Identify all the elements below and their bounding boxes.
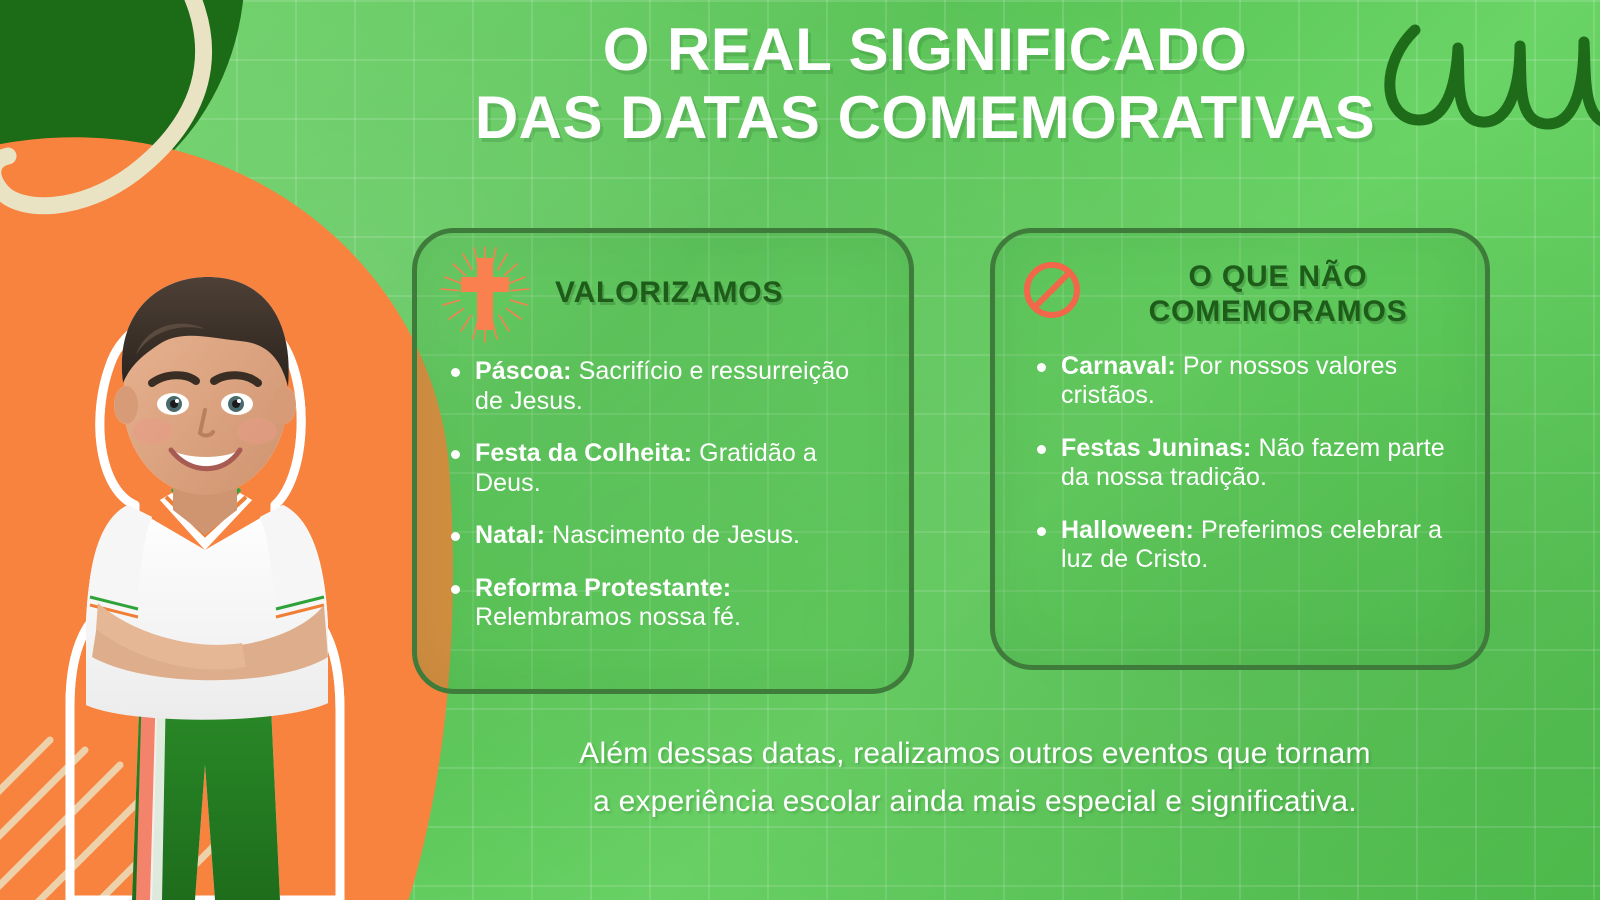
list-item: Natal: Nascimento de Jesus. <box>451 521 883 551</box>
footer-line-2: a experiência escolar ainda mais especia… <box>420 778 1530 826</box>
list-item: Carnaval: Por nossos valores cristãos. <box>1037 352 1463 411</box>
list-item: Reforma Protestante: Relembramos nossa f… <box>451 574 883 633</box>
title-line-1: O REAL SIGNIFICADO <box>603 16 1248 83</box>
card-header: VALORIZAMOS <box>417 233 909 343</box>
item-description: Relembramos nossa fé. <box>475 603 741 631</box>
item-term: Natal: <box>475 521 545 549</box>
poster-canvas: O REAL SIGNIFICADO DAS DATAS COMEMORATIV… <box>0 0 1600 900</box>
item-term: Reforma Protestante: <box>475 574 731 602</box>
list-item: Festa da Colheita: Gratidão a Deus. <box>451 439 883 498</box>
prohibition-icon <box>1021 259 1083 321</box>
cross-sunburst-icon <box>439 243 531 343</box>
item-term: Páscoa: <box>475 357 572 385</box>
valorizamos-list: Páscoa: Sacrifício e ressurreição de Jes… <box>417 343 909 633</box>
item-term: Carnaval: <box>1061 352 1176 380</box>
card-header: O QUE NÃO COMEMORAMOS <box>995 233 1485 330</box>
card-title-nao-comemoramos: O QUE NÃO COMEMORAMOS <box>1097 259 1459 330</box>
item-term: Festas Juninas: <box>1061 434 1251 462</box>
title-line-2: DAS DATAS COMEMORATIVAS <box>430 84 1420 152</box>
card-nao-comemoramos: O QUE NÃO COMEMORAMOS Carnaval: Por noss… <box>990 228 1490 670</box>
footer-text: Além dessas datas, realizamos outros eve… <box>420 730 1530 826</box>
item-term: Festa da Colheita: <box>475 439 692 467</box>
footer-line-1: Além dessas datas, realizamos outros eve… <box>420 730 1530 778</box>
list-item: Festas Juninas: Não fazem parte da nossa… <box>1037 434 1463 493</box>
nao-comemoramos-list: Carnaval: Por nossos valores cristãos. F… <box>995 330 1485 575</box>
card-valorizamos: VALORIZAMOS Páscoa: Sacrifício e ressurr… <box>412 228 914 694</box>
card-title-valorizamos: VALORIZAMOS <box>555 275 783 310</box>
smiling-boy-photo <box>40 205 370 900</box>
item-description: Nascimento de Jesus. <box>545 521 800 549</box>
page-title: O REAL SIGNIFICADO DAS DATAS COMEMORATIV… <box>430 16 1420 152</box>
list-item: Páscoa: Sacrifício e ressurreição de Jes… <box>451 357 883 416</box>
item-term: Halloween: <box>1061 516 1194 544</box>
list-item: Halloween: Preferimos celebrar a luz de … <box>1037 516 1463 575</box>
